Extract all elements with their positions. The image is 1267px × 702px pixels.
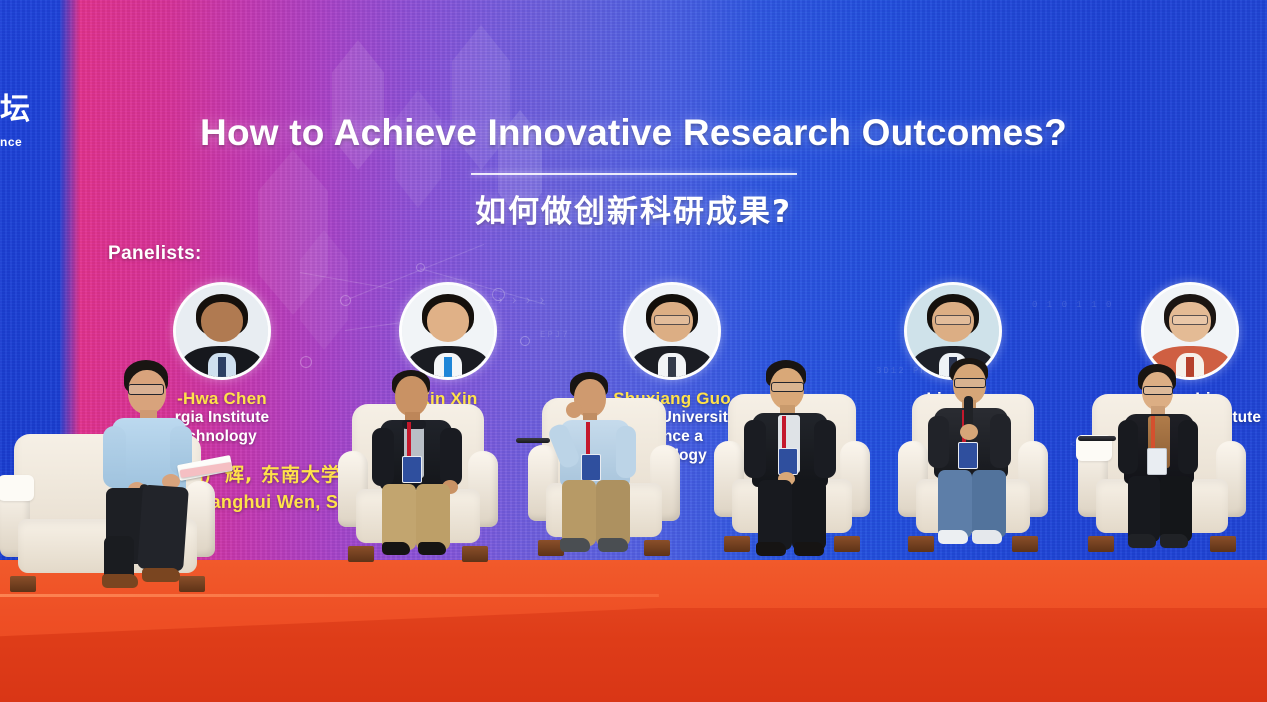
arm-right (616, 426, 636, 478)
leg-left (562, 480, 596, 546)
shoe-right-sneaker (972, 530, 1002, 544)
badge (581, 454, 601, 481)
arm-right (440, 428, 462, 486)
shoe-right (1160, 534, 1188, 548)
table-microphone (1078, 436, 1116, 441)
leg-right-jeans (972, 470, 1006, 538)
bow-tie (402, 420, 426, 429)
shoe-left-sneaker (938, 530, 968, 544)
shoe-right (794, 542, 824, 556)
leg-right (137, 484, 189, 571)
leg-left-jeans (938, 470, 972, 538)
glasses (771, 382, 804, 392)
lanyard (586, 422, 590, 456)
panelist-person (1118, 364, 1222, 560)
arm-right (1178, 420, 1198, 474)
shoe-right (142, 568, 180, 582)
arm-left (744, 420, 766, 478)
conference-stage-photo: › › › › › › › › 3D12 PRI 0 1 0 1 1 0 < <… (0, 0, 1267, 702)
glasses (954, 378, 986, 388)
leg-right (416, 484, 450, 550)
hand-holding-mic (960, 424, 978, 440)
lanyard (782, 416, 786, 450)
chair-foot (10, 576, 36, 592)
badge (958, 442, 978, 469)
arm-left (1118, 420, 1138, 474)
slide-title-english: How to Achieve Innovative Research Outco… (0, 112, 1267, 154)
panelist-person (370, 370, 480, 570)
slide-title-chinese: 如何做创新科研成果? (0, 186, 1267, 231)
panelist-avatar (623, 282, 721, 380)
panelist-person (552, 372, 660, 567)
title-divider (471, 173, 797, 175)
arm-left (928, 416, 949, 468)
arm-left (372, 428, 394, 486)
badge (1147, 448, 1167, 475)
lanyard (407, 422, 411, 458)
table-microphone (516, 438, 550, 443)
arm-right (814, 420, 836, 478)
panelist-avatar (399, 282, 497, 380)
glasses (128, 384, 164, 395)
leg-left (382, 484, 416, 550)
shoe-left (382, 542, 410, 555)
leg-right (792, 480, 826, 550)
shoe-left (102, 574, 138, 588)
shoe-right (418, 542, 446, 555)
shoe-left (560, 538, 590, 552)
shoe-left (1128, 534, 1156, 548)
leg-left (758, 480, 792, 550)
shoe-right (598, 538, 628, 552)
chair-foot (1088, 536, 1114, 552)
panelist-person (744, 360, 856, 560)
badge (778, 448, 798, 475)
chair-doily (0, 475, 34, 501)
panelists-label: Panelists: (108, 243, 202, 265)
arm-left (103, 426, 126, 488)
lanyard-orange (1151, 416, 1155, 450)
arm-right (990, 414, 1011, 468)
badge (402, 456, 422, 483)
hand-left-at-ear (566, 402, 582, 418)
shoe-left (756, 542, 786, 556)
head (395, 376, 428, 416)
leg-right (1160, 476, 1192, 542)
leg-left (1128, 476, 1160, 542)
moderator-person (92, 360, 222, 595)
panelist-person-speaking (928, 358, 1038, 558)
glasses (1143, 386, 1173, 395)
leg-right (596, 480, 630, 546)
